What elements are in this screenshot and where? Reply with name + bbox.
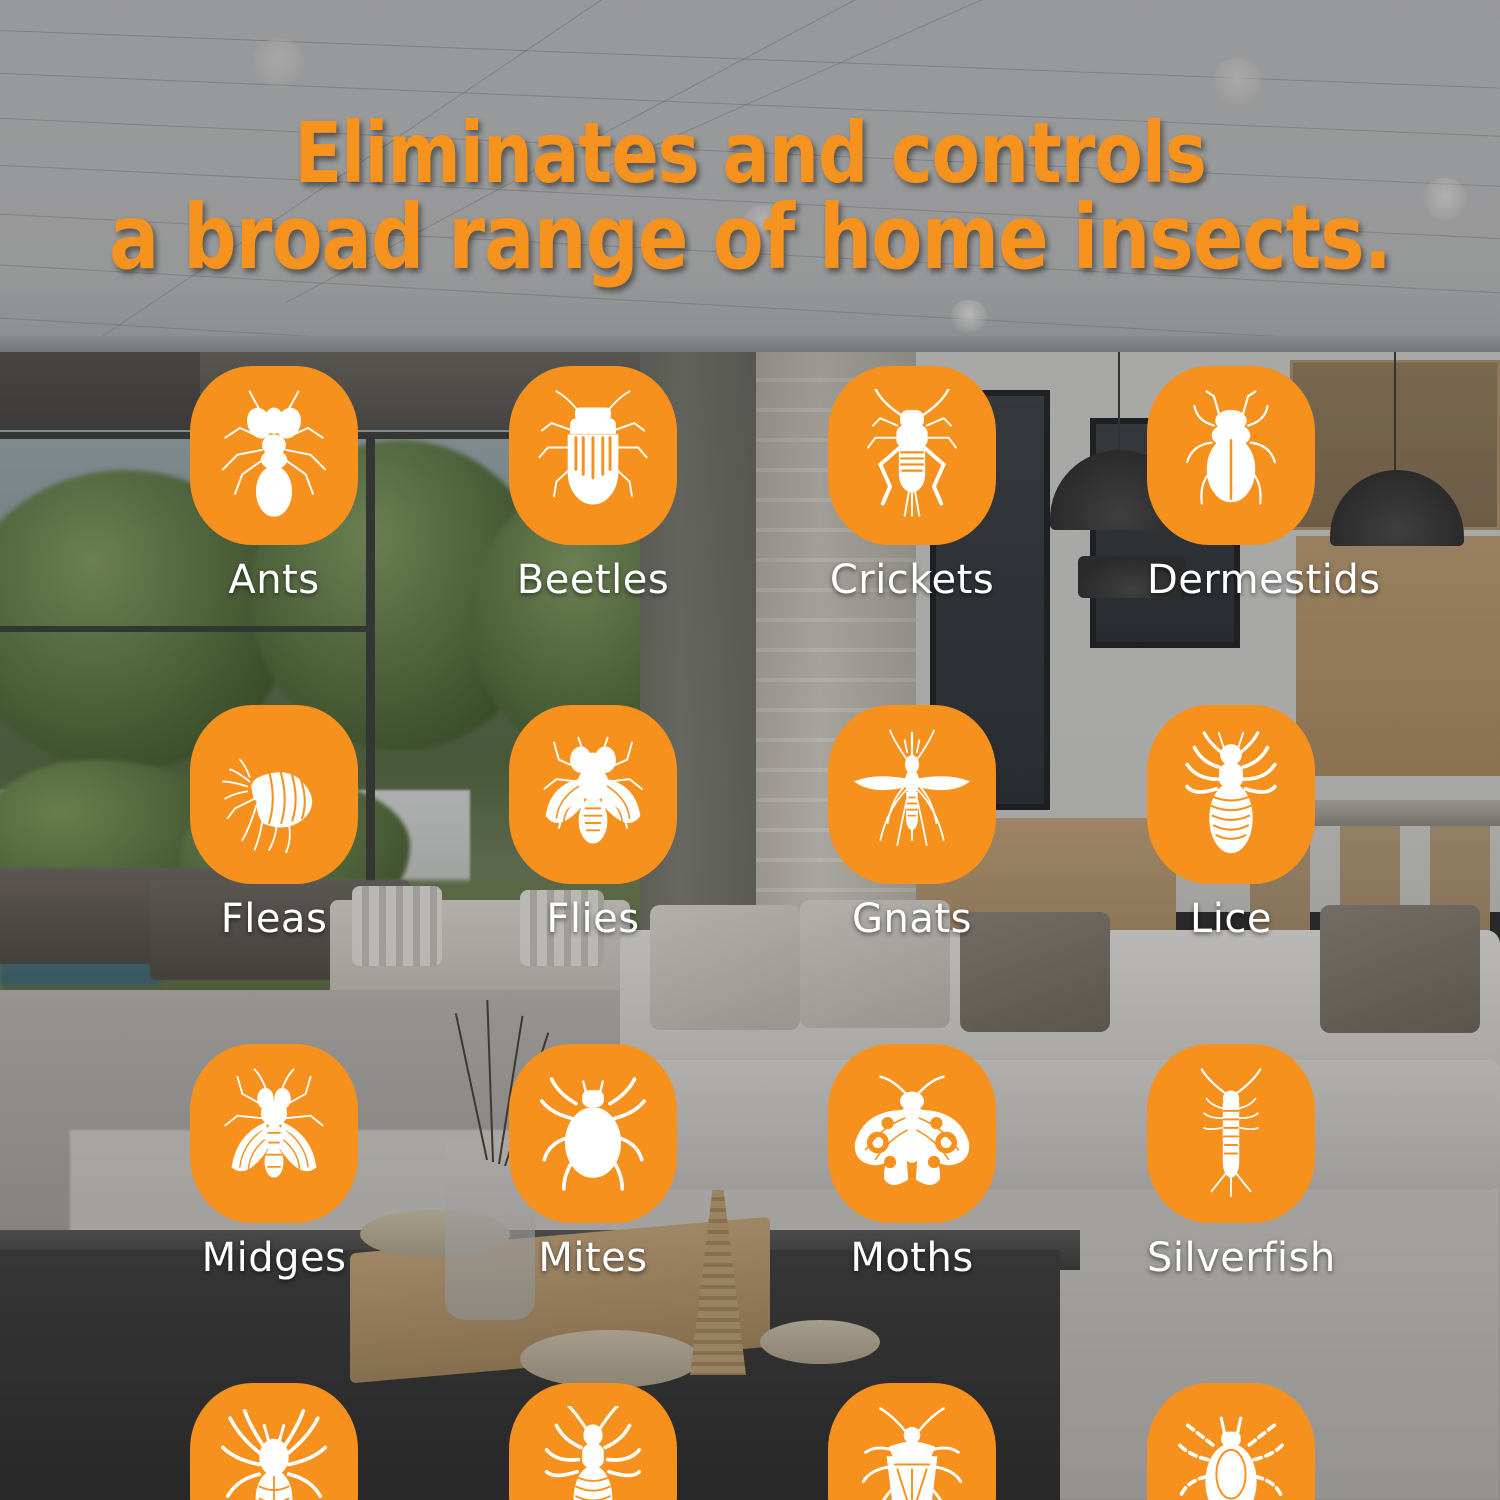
flea-icon [212,728,336,862]
page-headline: Eliminates and controls a broad range of… [53,112,1448,282]
pest-tile[interactable] [190,366,358,545]
pest-label: Beetles [509,559,677,601]
pest-label: Crickets [828,559,996,601]
fly-icon [531,728,655,862]
pest-label: Fleas [190,898,358,940]
pest-tile[interactable] [190,1044,358,1223]
pest-cell-spiders[interactable]: Spiders [190,1383,358,1500]
dermestid-beetle-icon [1169,389,1293,523]
pest-tile[interactable] [828,1383,996,1500]
headline-line-2: a broad range of home insects. [53,194,1448,281]
pest-tile[interactable] [509,1044,677,1223]
pest-tile[interactable] [1147,1383,1315,1500]
silverfish-icon [1169,1067,1293,1201]
pest-icon-grid: Ants Bee [190,366,1320,1500]
pest-tile[interactable] [509,366,677,545]
pest-tile[interactable] [509,705,677,884]
stink-bug-icon [850,1406,974,1500]
pest-tile[interactable] [1147,366,1315,545]
pest-label: Dermestids [1147,559,1315,601]
pest-tile[interactable] [1147,705,1315,884]
pest-cell-springtails[interactable]: Springtails [509,1383,677,1500]
pest-tile[interactable] [1147,1044,1315,1223]
pest-cell-ticks[interactable]: Ticks [1147,1383,1315,1500]
pest-tile[interactable] [190,1383,358,1500]
pest-label: Ants [190,559,358,601]
pest-label: Moths [828,1237,996,1279]
pest-label: Mites [509,1237,677,1279]
pest-cell-lice[interactable]: Lice [1147,705,1315,940]
ant-icon [212,389,336,523]
moth-icon [850,1067,974,1201]
tick-icon [1169,1406,1293,1500]
pest-tile[interactable] [828,705,996,884]
pest-cell-beetles[interactable]: Beetles [509,366,677,601]
pest-label: Flies [509,898,677,940]
pest-cell-flies[interactable]: Flies [509,705,677,940]
springtail-icon [531,1406,655,1500]
pest-label: Silverfish [1147,1237,1315,1279]
mite-icon [531,1067,655,1201]
pest-cell-dermestids[interactable]: Dermestids [1147,366,1315,601]
pest-cell-gnats[interactable]: Gnats [828,705,996,940]
pest-cell-moths[interactable]: Moths [828,1044,996,1279]
pest-label: Lice [1147,898,1315,940]
pest-cell-mites[interactable]: Mites [509,1044,677,1279]
pest-cell-midges[interactable]: Midges [190,1044,358,1279]
pest-cell-fleas[interactable]: Fleas [190,705,358,940]
pest-tile[interactable] [828,1044,996,1223]
midge-icon [212,1067,336,1201]
cricket-icon [850,389,974,523]
pest-cell-crickets[interactable]: Crickets [828,366,996,601]
pest-label: Gnats [828,898,996,940]
beetle-icon [531,389,655,523]
spider-icon [212,1406,336,1500]
pest-cell-silverfish[interactable]: Silverfish [1147,1044,1315,1279]
pest-cell-stink-bugs[interactable]: Stink Bugs [828,1383,996,1500]
pest-tile[interactable] [828,366,996,545]
louse-icon [1169,728,1293,862]
pest-cell-ants[interactable]: Ants [190,366,358,601]
gnat-icon [850,728,974,862]
pest-tile[interactable] [509,1383,677,1500]
pest-tile[interactable] [190,705,358,884]
pest-label: Midges [190,1237,358,1279]
